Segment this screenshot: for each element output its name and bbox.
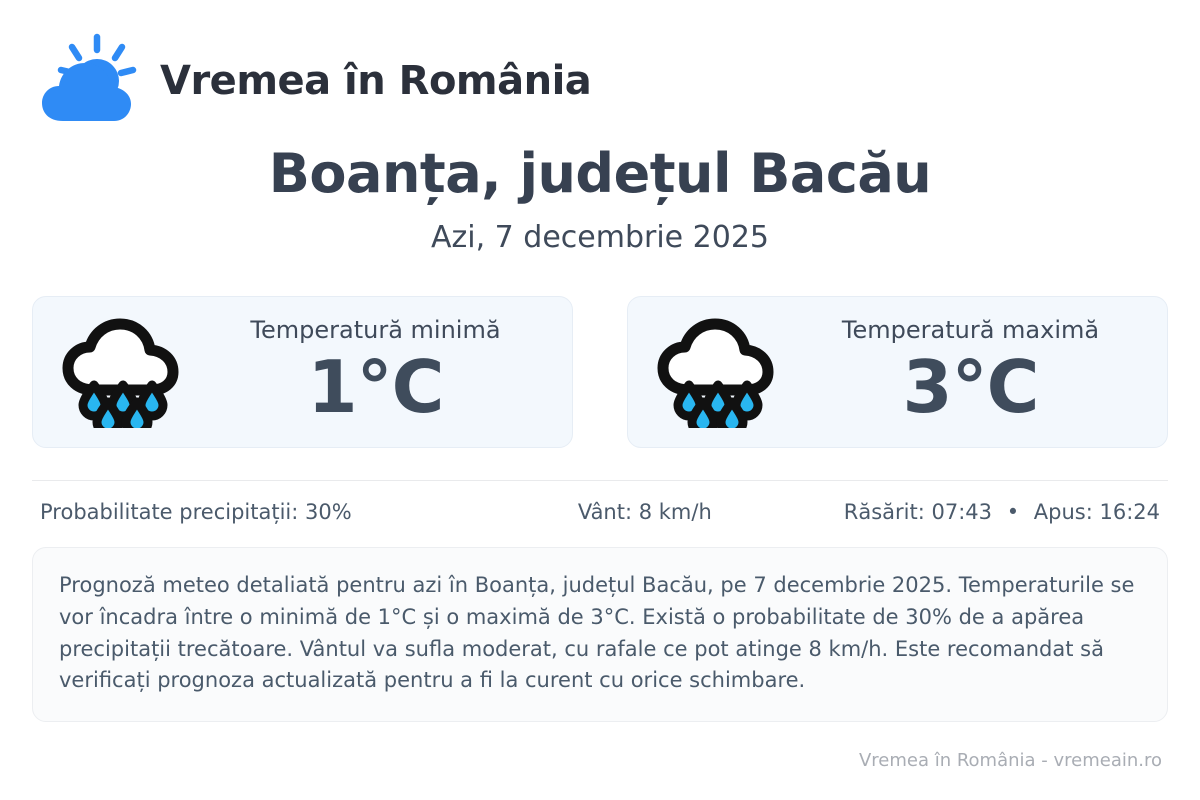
min-temperature-label: Temperatură minimă: [209, 316, 542, 345]
max-temperature-value: 3°C: [804, 346, 1137, 429]
forecast-description-box: Prognoză meteo detaliată pentru azi în B…: [32, 547, 1168, 723]
max-temperature-label: Temperatură maximă: [804, 316, 1137, 345]
weather-page: Vremea în România Boanța, județul Bacău …: [0, 0, 1200, 800]
rain-cloud-icon: [656, 316, 786, 428]
site-header: Vremea în România: [32, 0, 1168, 118]
rain-cloud-icon: [61, 316, 191, 428]
sunrise-value: Răsărit: 07:43: [844, 500, 992, 524]
sun-behind-cloud-icon: [38, 33, 142, 129]
sun-times-separator: •: [999, 499, 1027, 526]
forecast-description-text: Prognoză meteo detaliată pentru azi în B…: [59, 570, 1141, 698]
min-temperature-card: Temperatură minimă 1°C: [32, 296, 573, 448]
stats-divider: [32, 480, 1168, 481]
page-subtitle: Azi, 7 decembrie 2025: [32, 220, 1168, 256]
max-temperature-body: Temperatură maximă 3°C: [804, 316, 1151, 430]
stats-row: Probabilitate precipitații: 30% Vânt: 8 …: [32, 499, 1168, 526]
min-temperature-body: Temperatură minimă 1°C: [209, 316, 556, 430]
site-footer: Vremea în România - vremeain.ro: [859, 750, 1162, 772]
brand-name: Vremea în România: [160, 59, 591, 104]
min-temperature-value: 1°C: [209, 346, 542, 429]
wind-stat: Vânt: 8 km/h: [510, 499, 779, 526]
sun-times-stat: Răsărit: 07:43 • Apus: 16:24: [779, 499, 1160, 526]
precipitation-stat: Probabilitate precipitații: 30%: [40, 499, 510, 526]
page-title: Boanța, județul Bacău: [32, 144, 1168, 204]
sunset-value: Apus: 16:24: [1034, 500, 1160, 524]
temperature-cards: Temperatură minimă 1°C Temper: [32, 296, 1168, 448]
title-block: Boanța, județul Bacău Azi, 7 decembrie 2…: [32, 144, 1168, 256]
max-temperature-card: Temperatură maximă 3°C: [627, 296, 1168, 448]
